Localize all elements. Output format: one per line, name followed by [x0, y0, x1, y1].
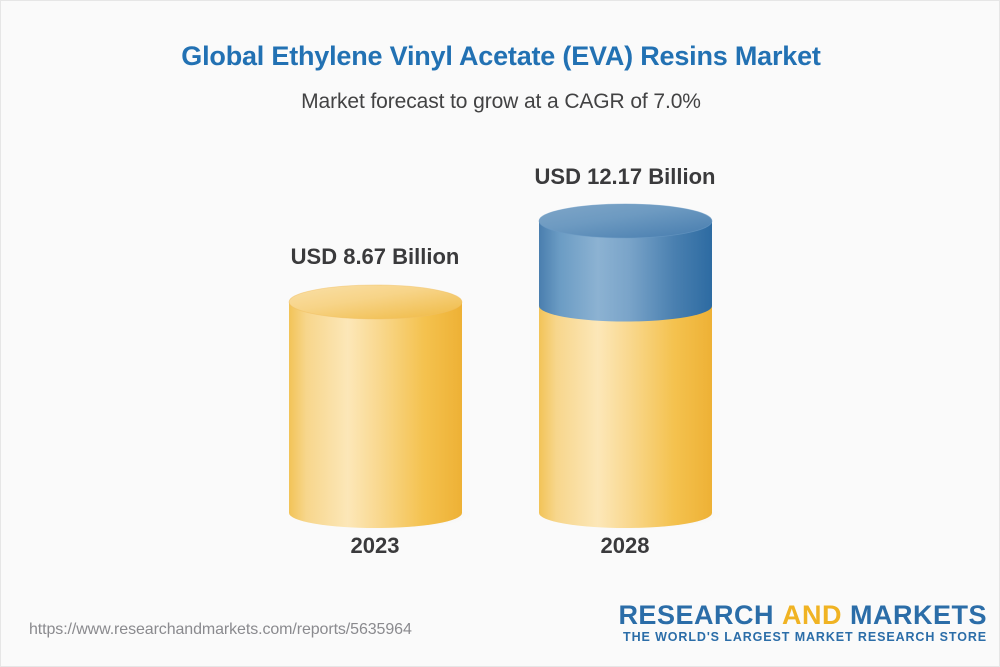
brand-wordmark: RESEARCH AND MARKETS — [618, 601, 987, 629]
brand-word-research: RESEARCH — [618, 600, 774, 630]
brand-logo[interactable]: RESEARCH AND MARKETS THE WORLD'S LARGEST… — [618, 601, 987, 644]
chart-canvas: Global Ethylene Vinyl Acetate (EVA) Resi… — [0, 0, 1000, 667]
brand-tagline: THE WORLD'S LARGEST MARKET RESEARCH STOR… — [618, 630, 987, 644]
brand-word-markets: MARKETS — [850, 600, 987, 630]
bar-group-2028: USD 12.17 Billion — [1, 1, 1000, 601]
value-label-2028: USD 12.17 Billion — [465, 164, 785, 190]
cylinder-2028 — [1, 1, 1000, 601]
brand-space-2 — [842, 600, 850, 630]
brand-space-1 — [774, 600, 782, 630]
report-url[interactable]: https://www.researchandmarkets.com/repor… — [29, 621, 412, 639]
brand-word-and: AND — [782, 600, 842, 630]
plot-area: USD 8.67 Billion — [1, 1, 1000, 601]
category-label-2028: 2028 — [465, 533, 785, 559]
